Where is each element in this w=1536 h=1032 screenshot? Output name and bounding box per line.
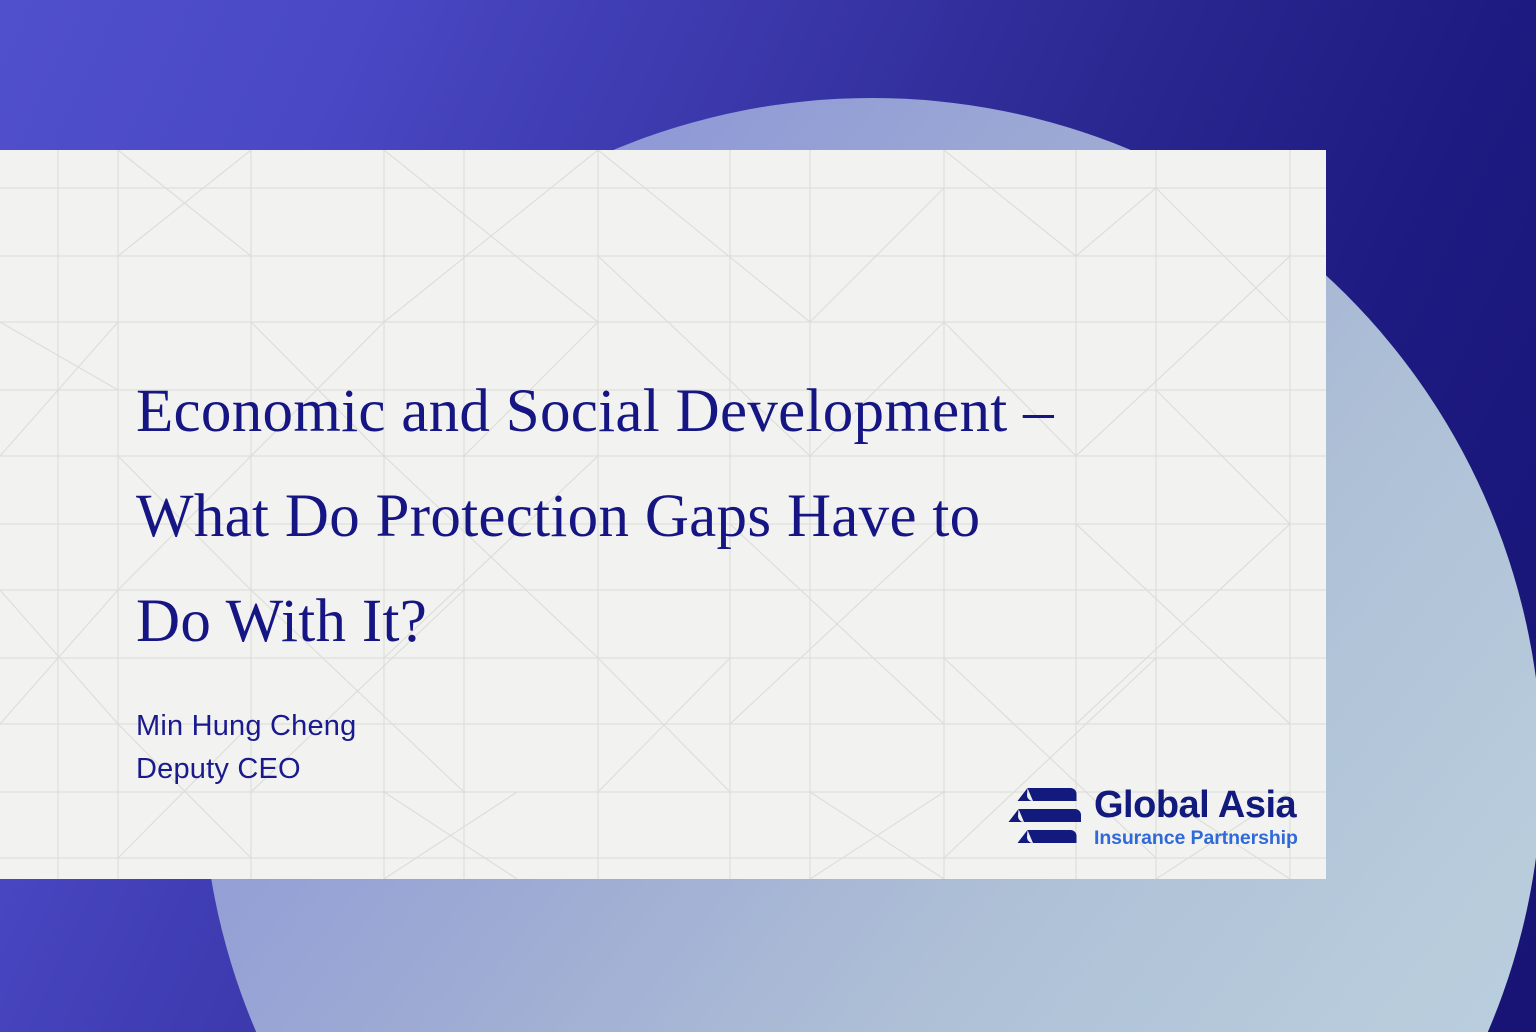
global-asia-stacked-bars-icon — [1008, 786, 1082, 848]
global-asia-logo: Global Asia Insurance Partnership — [1008, 786, 1298, 849]
logo-subtitle: Insurance Partnership — [1094, 829, 1298, 849]
title-slide: Economic and Social Development – What D… — [0, 0, 1536, 1032]
slide-title: Economic and Social Development – What D… — [136, 359, 1256, 674]
presenter-block: Min Hung Cheng Deputy CEO — [136, 705, 356, 791]
presenter-role: Deputy CEO — [136, 748, 356, 791]
logo-title: Global Asia — [1094, 786, 1298, 824]
presenter-name: Min Hung Cheng — [136, 705, 356, 748]
logo-wordmark: Global Asia Insurance Partnership — [1094, 786, 1298, 849]
content-panel: Economic and Social Development – What D… — [0, 150, 1326, 879]
